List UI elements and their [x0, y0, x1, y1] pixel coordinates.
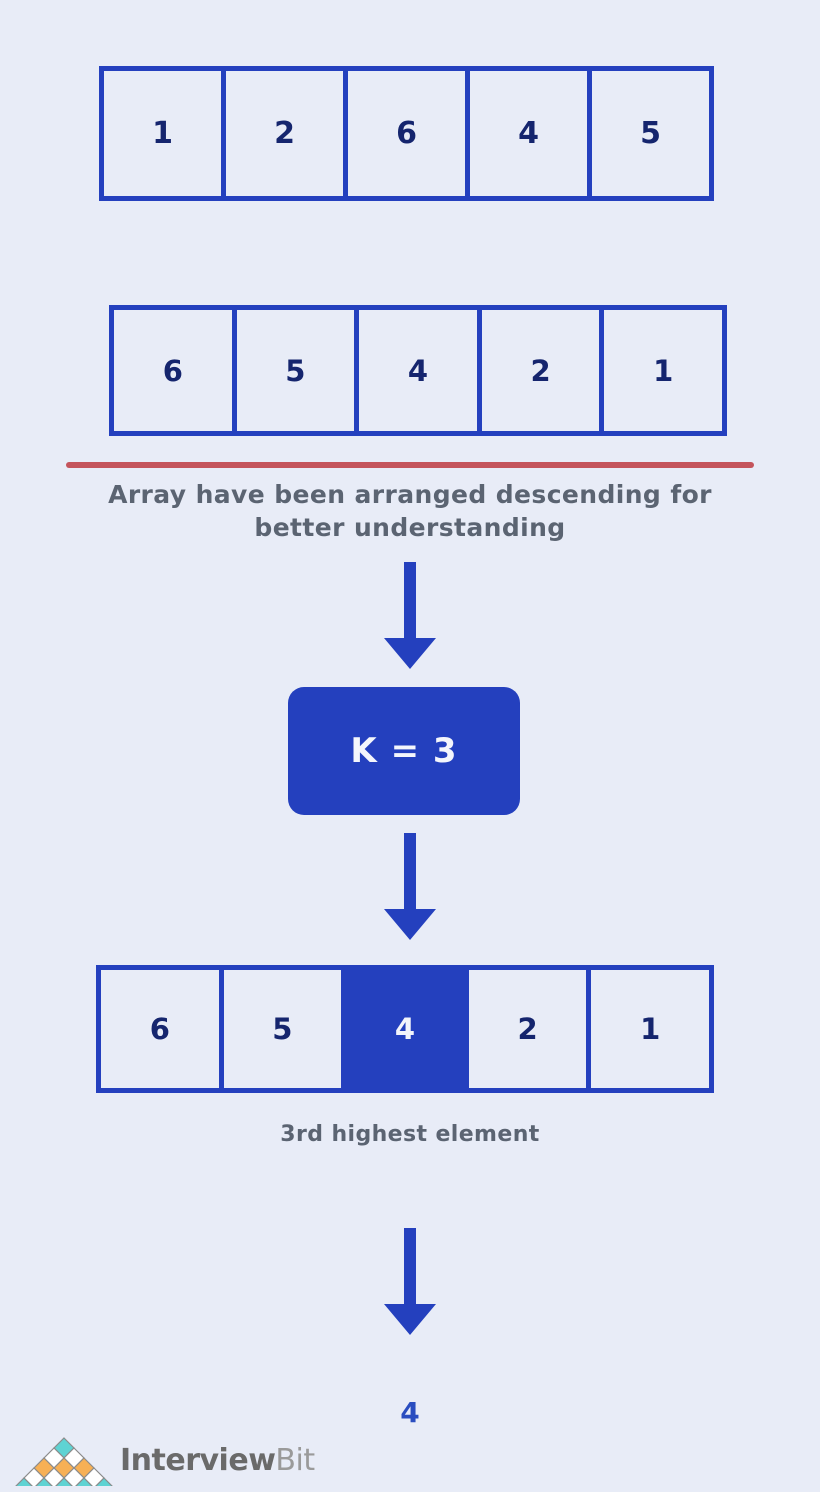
descending-note-caption: Array have been arranged descending for …	[60, 478, 760, 544]
array-cell: 6	[348, 71, 465, 196]
k-value-box: K = 3	[288, 687, 520, 815]
sorted-descending-array: 6 5 4 2 1	[109, 305, 727, 436]
array-cell: 5	[224, 970, 342, 1088]
array-cell: 4	[359, 310, 477, 431]
final-answer: 4	[0, 1396, 820, 1429]
array-cell: 1	[604, 310, 722, 431]
interviewbit-logo: InterviewBit	[14, 1434, 315, 1486]
array-cell: 1	[591, 970, 709, 1088]
array-cell: 4	[470, 71, 587, 196]
array-cell: 2	[226, 71, 343, 196]
array-cell: 1	[104, 71, 221, 196]
logo-wordmark: InterviewBit	[120, 1443, 315, 1478]
arrow-down-icon	[379, 562, 441, 675]
interviewbit-logo-icon	[14, 1434, 114, 1486]
logo-word-bit: Bit	[275, 1443, 314, 1478]
highest-element-caption: 3rd highest element	[260, 1120, 560, 1151]
logo-word-interview: Interview	[120, 1443, 275, 1478]
input-array: 1 2 6 4 5	[99, 66, 714, 201]
result-array: 6 5 4 2 1	[96, 965, 714, 1093]
array-cell: 2	[482, 310, 600, 431]
array-cell: 2	[469, 970, 587, 1088]
array-cell: 5	[592, 71, 709, 196]
array-cell: 5	[237, 310, 355, 431]
array-cell-highlighted: 4	[346, 970, 464, 1088]
arrow-down-icon	[379, 1228, 441, 1341]
arrow-down-icon	[379, 833, 441, 946]
divider-rule	[66, 462, 754, 468]
array-cell: 6	[101, 970, 219, 1088]
array-cell: 6	[114, 310, 232, 431]
diagram-canvas: 1 2 6 4 5 6 5 4 2 1 Array have been arra…	[0, 0, 820, 1492]
